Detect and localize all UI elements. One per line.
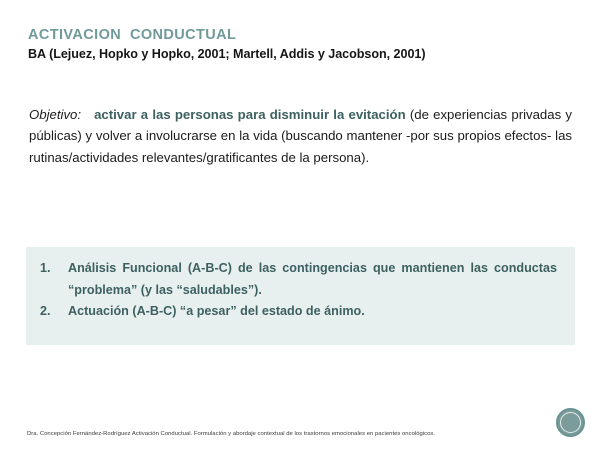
circle-logo-inner-ring bbox=[560, 412, 582, 434]
numbered-list: 1. Análisis Funcional (A-B-C) de las con… bbox=[38, 258, 557, 323]
highlight-box: 1. Análisis Funcional (A-B-C) de las con… bbox=[26, 247, 575, 345]
slide-canvas: ACTIVACION CONDUCTUAL BA (Lejuez, Hopko … bbox=[0, 0, 600, 450]
list-item: 2. Actuación (A-B-C) “a pesar” del estad… bbox=[38, 301, 557, 323]
objective-paragraph-text: Objetivo:activar a las personas para dis… bbox=[29, 104, 572, 168]
objective-accent-phrase: activar a las personas para disminuir la… bbox=[94, 107, 406, 122]
list-item-text: Análisis Funcional (A-B-C) de las contin… bbox=[68, 258, 557, 301]
list-item-text: Actuación (A-B-C) “a pesar” del estado d… bbox=[68, 301, 557, 323]
objective-label: Objetivo bbox=[29, 107, 77, 122]
page-subtitle-citation: BA (Lejuez, Hopko y Hopko, 2001; Martell… bbox=[28, 46, 573, 62]
objective-label-colon: : bbox=[77, 107, 81, 122]
slide-footer: Dra. Concepción Fernández-Rodríguez Acti… bbox=[27, 431, 547, 438]
objective-paragraph: Objetivo:activar a las personas para dis… bbox=[29, 104, 572, 168]
list-item: 1. Análisis Funcional (A-B-C) de las con… bbox=[38, 258, 557, 301]
slide-header: ACTIVACION CONDUCTUAL BA (Lejuez, Hopko … bbox=[28, 26, 573, 62]
page-title: ACTIVACION CONDUCTUAL bbox=[28, 26, 573, 45]
list-item-marker: 1. bbox=[38, 258, 68, 280]
list-item-marker: 2. bbox=[38, 301, 68, 323]
circle-logo-icon bbox=[556, 408, 585, 437]
